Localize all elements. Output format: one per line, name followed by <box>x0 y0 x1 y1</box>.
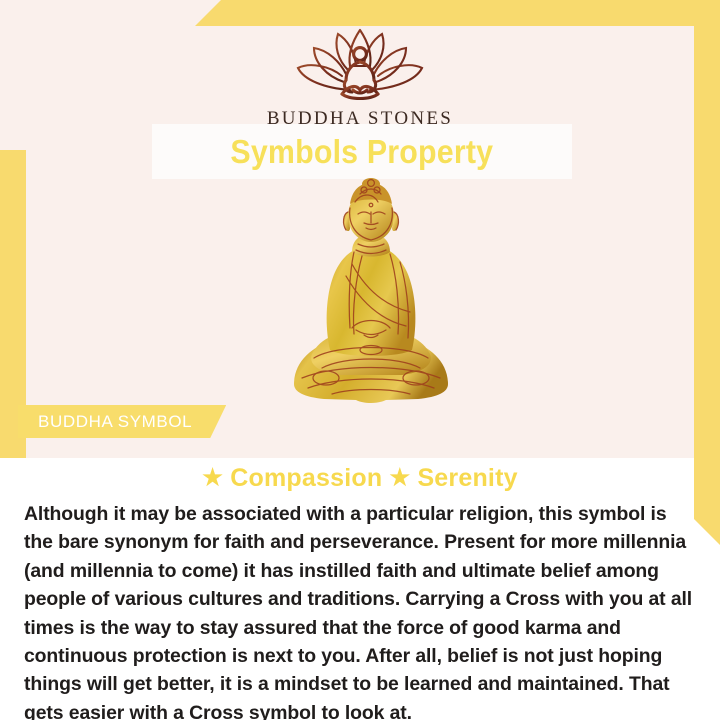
seated-golden-buddha-illustration <box>278 178 464 408</box>
body-paragraph: Although it may be associated with a par… <box>24 500 696 720</box>
page-title: Symbols Property <box>231 133 494 171</box>
section-badge: BUDDHA SYMBOL <box>18 405 226 438</box>
poster-root: BUDDHA STONES Symbols Property <box>0 0 720 720</box>
attribute-compassion: Compassion <box>230 464 382 492</box>
attribute-serenity: Serenity <box>417 464 517 492</box>
star-icon-right: ★ <box>389 464 410 490</box>
lotus-meditation-icon <box>280 24 440 104</box>
star-icon-left: ★ <box>202 464 223 490</box>
section-badge-label: BUDDHA SYMBOL <box>38 412 192 432</box>
attributes-heading: ★ Compassion ★ Serenity <box>0 464 720 493</box>
accent-bar-top <box>195 0 720 26</box>
brand-logo: BUDDHA STONES <box>0 24 720 130</box>
title-band: Symbols Property <box>152 124 572 179</box>
